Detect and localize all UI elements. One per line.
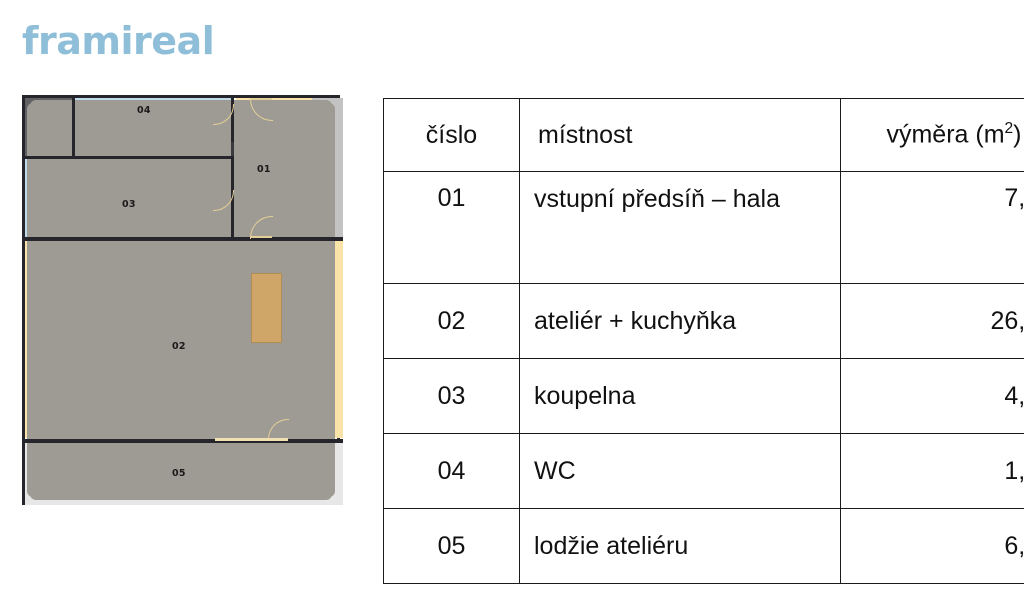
- cell-area-01: 7,01: [841, 172, 1024, 284]
- header-room: místnost: [520, 99, 841, 172]
- cell-area-03: 4,65: [841, 359, 1024, 434]
- door-leaf-hall-bottom: [250, 236, 272, 238]
- door-leaf-loggia: [215, 438, 288, 441]
- header-number: číslo: [384, 99, 520, 172]
- cell-area-04: 1,91: [841, 434, 1024, 509]
- cell-area-02: 26,41: [841, 284, 1024, 359]
- cell-room-01: vstupní předsíň – hala: [520, 172, 841, 284]
- cell-room-03: koupelna: [520, 359, 841, 434]
- wall-shaft-wc: [72, 98, 75, 156]
- table-row: 02 ateliér + kuchyňka 26,41: [384, 284, 1024, 359]
- table-row: 04 WC 1,91: [384, 434, 1024, 509]
- wall-studio-loggia: [25, 439, 343, 443]
- floor-plan-canvas: 04 03 01 02 05: [25, 98, 337, 502]
- table-header-row: číslo místnost výměra (m2): [384, 99, 1024, 172]
- plan-label-01: 01: [257, 164, 271, 175]
- framireal-logo: framireal: [22, 22, 214, 60]
- wall-upper-lower: [25, 237, 343, 241]
- table-row: 01 vstupní předsíň – hala 7,01: [384, 172, 1024, 284]
- floor-plan: 04 03 01 02 05: [22, 95, 340, 505]
- header-area-unit: 2: [1005, 120, 1014, 137]
- table-row: 03 koupelna 4,65: [384, 359, 1024, 434]
- cell-number-02: 02: [384, 284, 520, 359]
- header-area-text: výměra (m: [886, 121, 1004, 149]
- cell-number-05: 05: [384, 509, 520, 584]
- table-body: 01 vstupní předsíň – hala 7,01 02 atelié…: [384, 172, 1024, 584]
- header-area: výměra (m2): [841, 99, 1024, 172]
- cell-number-01: 01: [384, 172, 520, 284]
- dining-table-icon: [251, 273, 282, 343]
- door-leaf-hall-top: [250, 98, 272, 100]
- chair-bottom-icon: [25, 179, 54, 202]
- header-area-suffix: ): [1013, 121, 1021, 149]
- plan-label-02: 02: [172, 341, 186, 352]
- room-area-table: číslo místnost výměra (m2) 01 vstupní př…: [383, 98, 1024, 584]
- table-header: číslo místnost výměra (m2): [384, 99, 1024, 172]
- wall-bath-hall: [231, 98, 234, 238]
- door-jamb-bath: [231, 142, 234, 156]
- room-area-table-container: číslo místnost výměra (m2) 01 vstupní př…: [383, 98, 976, 499]
- wall-wc-bathroom: [25, 156, 233, 159]
- plan-label-04: 04: [137, 105, 151, 116]
- cell-room-05: lodžie ateliéru: [520, 509, 841, 584]
- cell-number-03: 03: [384, 359, 520, 434]
- plan-label-05: 05: [172, 468, 186, 479]
- cell-area-05: 6,80: [841, 509, 1024, 584]
- cell-room-02: ateliér + kuchyňka: [520, 284, 841, 359]
- cell-room-04: WC: [520, 434, 841, 509]
- table-row: 05 lodžie ateliéru 6,80: [384, 509, 1024, 584]
- plan-label-03: 03: [122, 199, 136, 210]
- cell-number-04: 04: [384, 434, 520, 509]
